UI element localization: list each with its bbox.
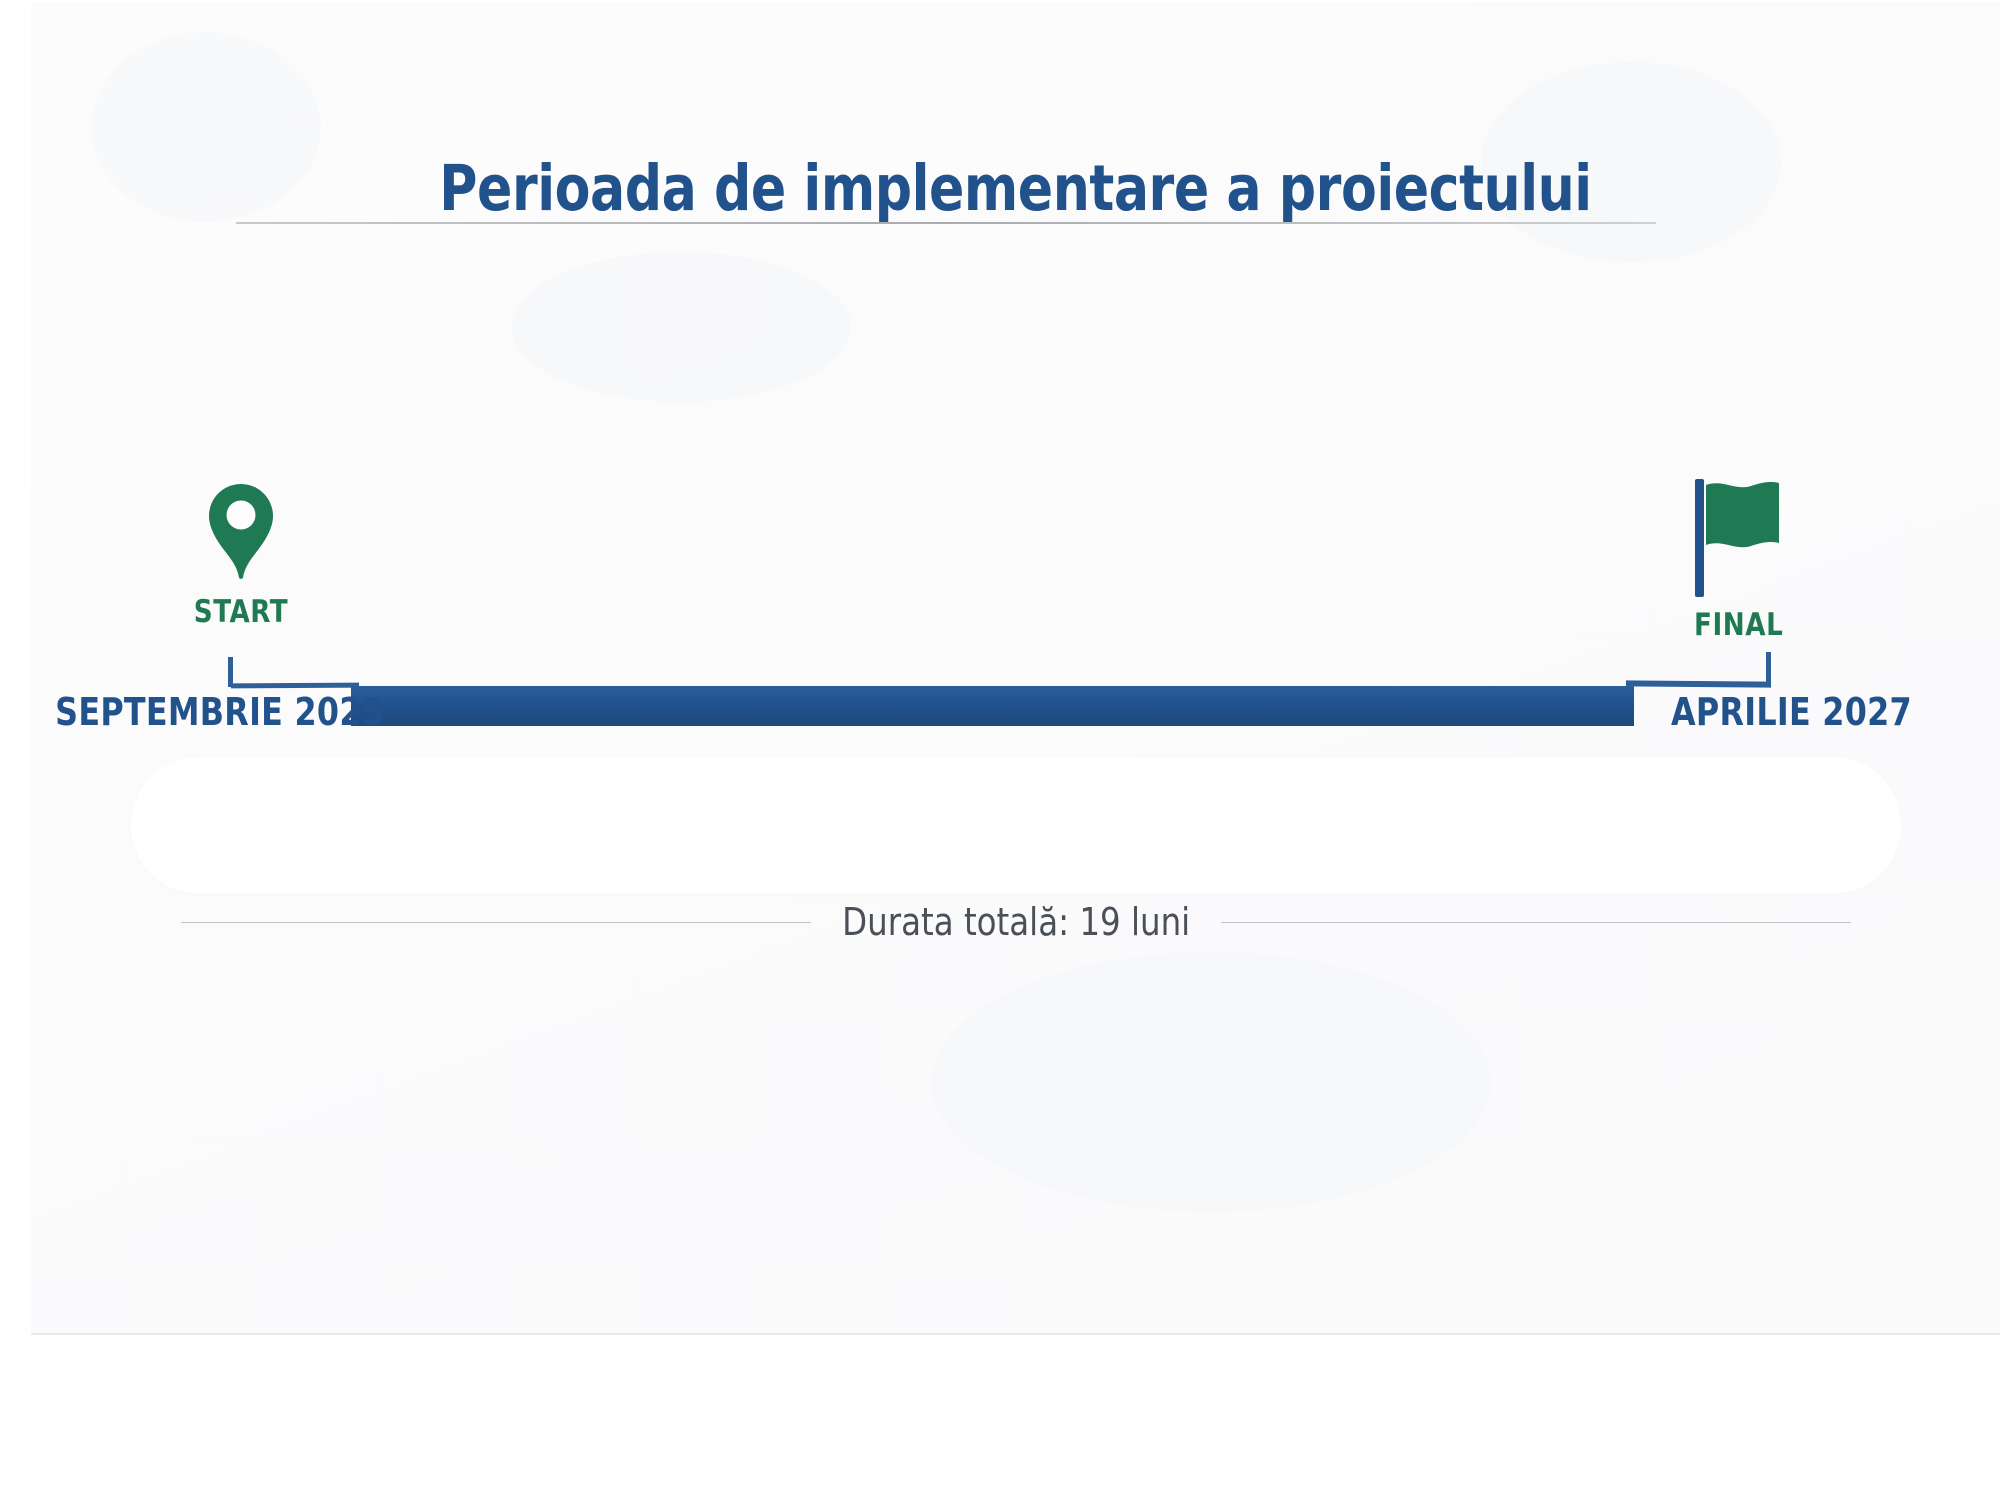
timeline-rail-left bbox=[231, 683, 359, 689]
duration-rule-right bbox=[1221, 922, 1851, 923]
timeline-tick-final bbox=[1766, 652, 1771, 686]
duration-text: Durata totală: 19 luni bbox=[842, 900, 1190, 944]
final-label: FINAL bbox=[1694, 607, 1870, 643]
timeline-rail-right bbox=[1626, 680, 1771, 687]
final-date: APRILIE 2027 bbox=[1671, 690, 1987, 734]
flag-icon bbox=[1691, 477, 1881, 603]
timeline-tick-start bbox=[228, 657, 233, 687]
slide-canvas: Perioada de implementare a proiectului S… bbox=[31, 2, 2000, 1335]
map-pin-icon bbox=[151, 482, 331, 588]
duration-rule-left bbox=[181, 922, 811, 923]
duration-row: Durata totală: 19 luni bbox=[181, 900, 1851, 944]
timeline-final-marker[interactable]: FINAL bbox=[1691, 477, 1881, 643]
timeline-start-marker[interactable]: START bbox=[151, 482, 331, 630]
start-date: SEPTEMBRIE 2025 bbox=[55, 690, 376, 734]
timeline-duration-bar bbox=[351, 686, 1634, 726]
start-label: START bbox=[156, 594, 325, 630]
project-timeline: START SEPTEMBRIE 2025 FINAL APRILIE 2027… bbox=[31, 2, 2000, 1333]
timeline-detail-card bbox=[131, 757, 1901, 894]
